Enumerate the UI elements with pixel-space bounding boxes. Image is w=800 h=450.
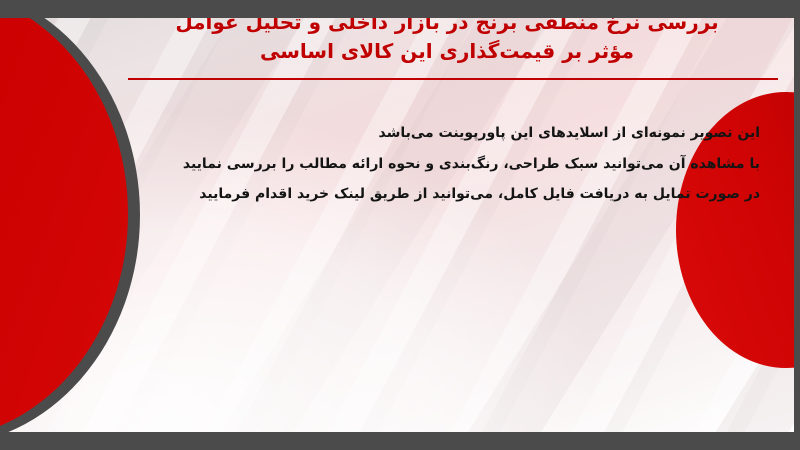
frame-border-top: [0, 0, 800, 18]
slide-content: بررسی نرخ منطقی برنج در بازار داخلی و تح…: [0, 0, 800, 450]
presentation-slide: بررسی نرخ منطقی برنج در بازار داخلی و تح…: [0, 0, 800, 450]
frame-border-bottom: [0, 432, 800, 450]
body-line-1: این تصویر نمونه‌ای از اسلایدهای این پاور…: [60, 118, 760, 149]
body-line-3: در صورت تمایل به دریافت فایل کامل، می‌تو…: [60, 179, 760, 210]
frame-border-right: [794, 0, 800, 450]
title-underline-rule: [128, 78, 778, 80]
body-line-2: با مشاهده آن می‌توانید سبک طراحی، رنگ‌بن…: [60, 149, 760, 180]
slide-body-text: این تصویر نمونه‌ای از اسلایدهای این پاور…: [60, 118, 760, 210]
slide-title-line-2: مؤثر بر قیمت‌گذاری این کالای اساسی: [112, 37, 782, 66]
